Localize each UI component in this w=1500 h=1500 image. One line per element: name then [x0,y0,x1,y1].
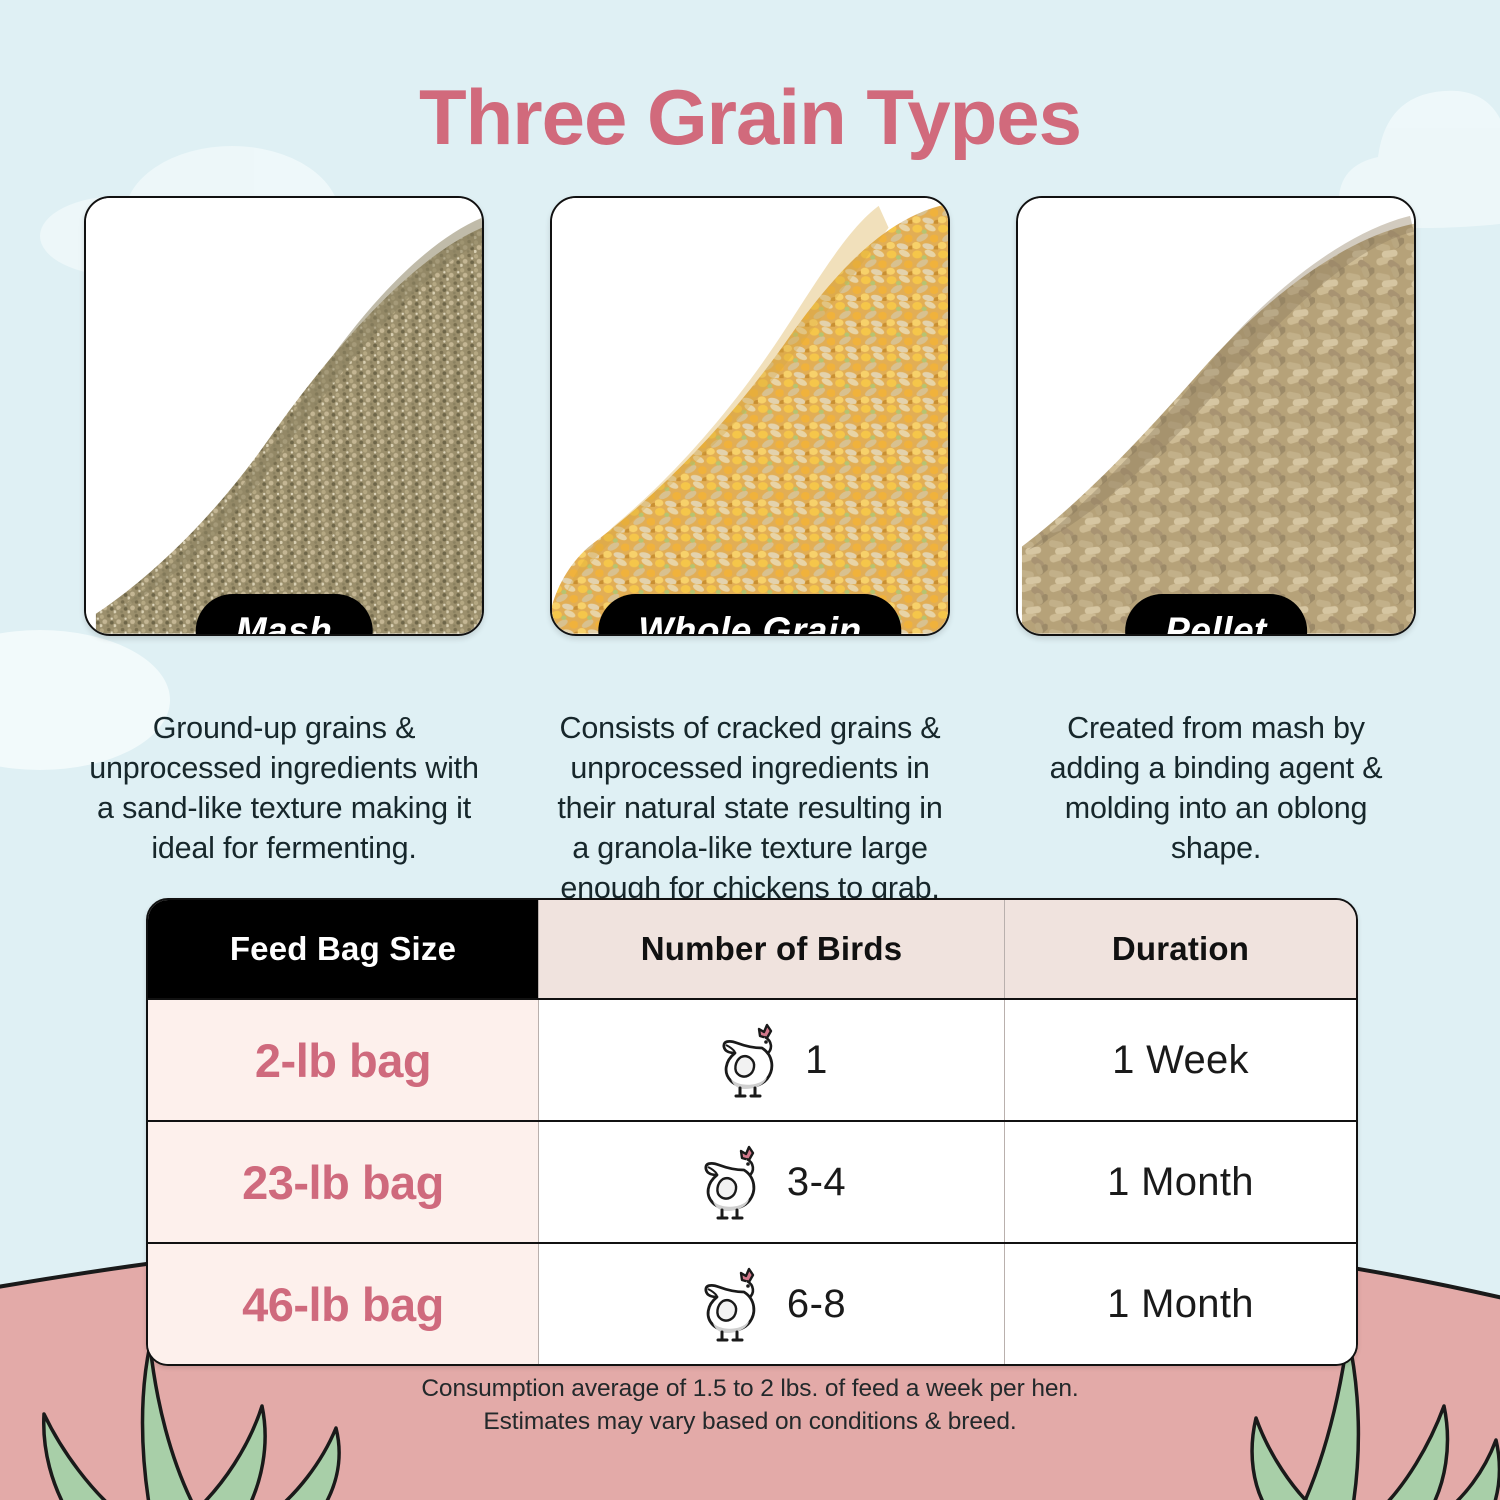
feed-bag-table: Feed Bag Size Number of Birds Duration 2… [146,898,1358,1366]
mash-description: Ground-up grains & unprocessed ingredien… [82,708,486,868]
pellet-photo-frame: Pellet [1016,196,1416,636]
birds-count: 3-4 [787,1160,846,1205]
cell-birds: 3-4 [538,1122,1004,1242]
cell-duration: 1 Month [1004,1244,1356,1364]
cell-bag-size: 46-lb bag [148,1244,538,1364]
page-title: Three Grain Types [0,72,1500,163]
cell-duration: 1 Month [1004,1122,1356,1242]
footnote: Consumption average of 1.5 to 2 lbs. of … [0,1372,1500,1438]
whole-grain-label-pill: Whole Grain [598,594,901,636]
table-header-row: Feed Bag Size Number of Birds Duration [148,900,1356,998]
cell-duration: 1 Week [1004,1000,1356,1120]
pellet-grain-photo [1018,198,1414,634]
cell-birds: 6-8 [538,1244,1004,1364]
grain-card-mash: Mash Ground-up grains & unprocessed ingr… [84,196,484,908]
footnote-line-1: Consumption average of 1.5 to 2 lbs. of … [0,1372,1500,1405]
table-row: 23-lb bag 3-4 1 Month [148,1120,1356,1242]
header-feed-bag-size: Feed Bag Size [148,900,538,998]
cell-bag-size: 2-lb bag [148,1000,538,1120]
pellet-description: Created from mash by adding a binding ag… [1041,708,1391,868]
whole-grain-photo-frame: Whole Grain [550,196,950,636]
header-duration: Duration [1004,900,1356,998]
grain-card-whole-grain: Whole Grain Consists of cracked grains &… [550,196,950,908]
mash-label: Mash [236,610,333,636]
pellet-label: Pellet [1165,610,1267,636]
cell-bag-size: 23-lb bag [148,1122,538,1242]
whole-grain-label: Whole Grain [638,610,861,636]
chicken-icon [697,1143,771,1221]
chicken-icon [715,1021,789,1099]
whole-grain-description: Consists of cracked grains & unprocessed… [548,708,952,908]
pellet-label-pill: Pellet [1125,594,1307,636]
mash-photo-frame: Mash [84,196,484,636]
grain-card-pellet: Pellet Created from mash by adding a bin… [1016,196,1416,908]
footnote-line-2: Estimates may vary based on conditions &… [0,1405,1500,1438]
table-row: 2-lb bag 1 1 Week [148,998,1356,1120]
whole-grain-photo [552,198,948,634]
mash-label-pill: Mash [196,594,373,636]
birds-count: 1 [805,1038,828,1083]
header-number-of-birds: Number of Birds [538,900,1004,998]
cell-birds: 1 [538,1000,1004,1120]
mash-grain-photo [86,198,482,634]
chicken-icon [697,1265,771,1343]
birds-count: 6-8 [787,1282,846,1327]
table-row: 46-lb bag 6-8 1 Month [148,1242,1356,1364]
grain-cards-row: Mash Ground-up grains & unprocessed ingr… [0,196,1500,908]
